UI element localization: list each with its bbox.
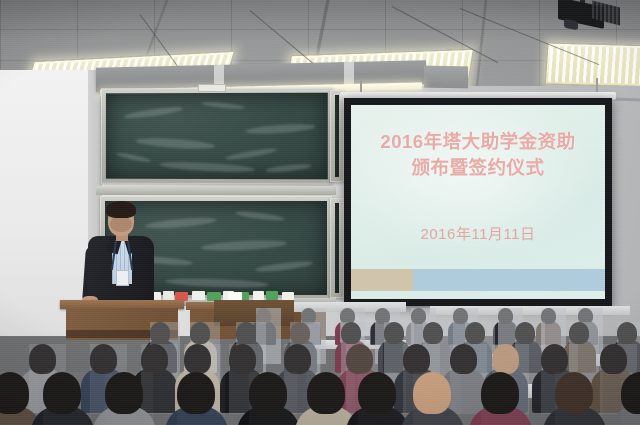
audience-depth-shading	[413, 372, 461, 425]
audience-depth-shading	[358, 372, 406, 425]
light-valance-segment	[424, 66, 468, 89]
slide-title-line-2: 颁布暨签约仪式	[351, 155, 605, 181]
chalk-box	[266, 291, 278, 300]
projection-screen: 2016年塔大助学金资助 颁布暨签约仪式 2016年11月11日	[344, 98, 612, 306]
chalkboard-side-panel-upper	[330, 90, 344, 182]
slide-title-line-1: 2016年塔大助学金资助	[351, 129, 605, 155]
audience-person	[621, 372, 640, 425]
audience-person	[358, 372, 406, 425]
seated-audience	[0, 300, 640, 425]
audience-person	[413, 372, 461, 425]
audience-depth-shading	[105, 372, 153, 425]
audience-depth-shading	[0, 372, 39, 425]
screenshot-root: 2016年塔大助学金资助 颁布暨签约仪式 2016年11月11日	[0, 0, 640, 425]
audience-depth-shading	[43, 372, 91, 425]
chalkboard-side-surface-lower	[335, 203, 339, 293]
chalkboard-eraser	[198, 84, 226, 92]
audience-person	[0, 372, 39, 425]
audience-depth-shading	[177, 372, 225, 425]
audience-depth-shading	[481, 372, 529, 425]
projector-lens	[564, 19, 578, 30]
audience-person	[43, 372, 91, 425]
projection-screen-surface: 2016年塔大助学金资助 颁布暨签约仪式 2016年11月11日	[351, 105, 605, 299]
chalk-box	[192, 291, 205, 300]
audience-person	[249, 372, 297, 425]
audience-person	[481, 372, 529, 425]
slide-date: 2016年11月11日	[351, 223, 605, 244]
speaker-hair	[106, 201, 136, 218]
audience-depth-shading	[307, 372, 355, 425]
audience-person	[105, 372, 153, 425]
audience-person	[177, 372, 225, 425]
lanyard-id-badge	[116, 270, 129, 286]
chalkboard-side-surface-upper	[335, 95, 339, 177]
slide-footer-block	[351, 269, 413, 291]
chalkboard-divider-rail	[96, 186, 336, 195]
audience-person	[555, 372, 603, 425]
speaker-face-shading	[110, 216, 132, 232]
ceiling-mounted-projector	[548, 0, 618, 34]
chalk-box	[253, 291, 264, 300]
chalk-box	[163, 291, 174, 300]
audience-depth-shading	[249, 372, 297, 425]
chalkboard-side-panel-lower	[330, 198, 344, 298]
slide-title: 2016年塔大助学金资助 颁布暨签约仪式	[351, 129, 605, 182]
audience-person	[307, 372, 355, 425]
upper-chalkboard	[101, 88, 333, 185]
audience-depth-shading	[621, 372, 640, 425]
upper-chalkboard-surface	[106, 93, 328, 180]
audience-depth-shading	[555, 372, 603, 425]
